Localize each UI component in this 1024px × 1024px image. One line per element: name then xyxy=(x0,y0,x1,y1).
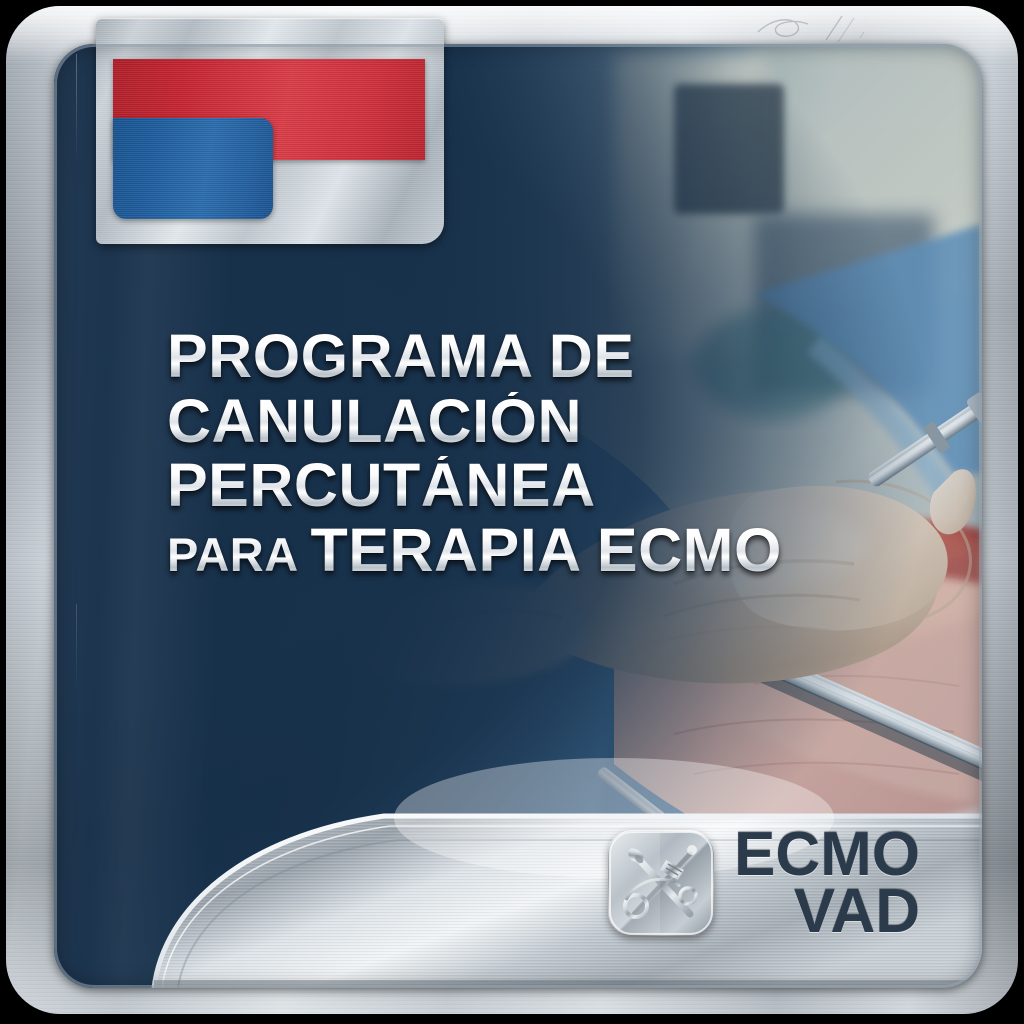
title-line-4-prefix: PARA xyxy=(167,528,311,581)
title-line-3: PERCUTÁNEA xyxy=(167,456,867,515)
title-line-4-emphasis: TERAPIA ECMO xyxy=(311,516,782,584)
brand-line-vad: VAD xyxy=(794,883,920,940)
brand-line-ecmo: ECMO xyxy=(734,826,920,883)
brand-lockup: ECMO VAD xyxy=(608,826,920,940)
outer-metal-frame: PROGRAMA DE CANULACIÓN PERCUTÁNEA PARA T… xyxy=(6,6,1018,1014)
brand-text: ECMO VAD xyxy=(734,826,920,940)
crossed-surgical-instruments-icon xyxy=(608,830,714,936)
flag-badge-plate xyxy=(96,18,444,244)
navy-panel-edge-highlight-lower xyxy=(76,604,77,694)
title-line-1: PROGRAMA DE xyxy=(167,327,867,386)
title-line-4: PARA TERAPIA ECMO xyxy=(167,521,867,580)
title-line-2: CANULACIÓN xyxy=(167,392,867,451)
badge-blue-block xyxy=(113,118,273,219)
navy-panel-edge-highlight xyxy=(76,54,77,164)
poster-canvas: PROGRAMA DE CANULACIÓN PERCUTÁNEA PARA T… xyxy=(0,0,1024,1024)
poster-title: PROGRAMA DE CANULACIÓN PERCUTÁNEA PARA T… xyxy=(167,327,867,585)
